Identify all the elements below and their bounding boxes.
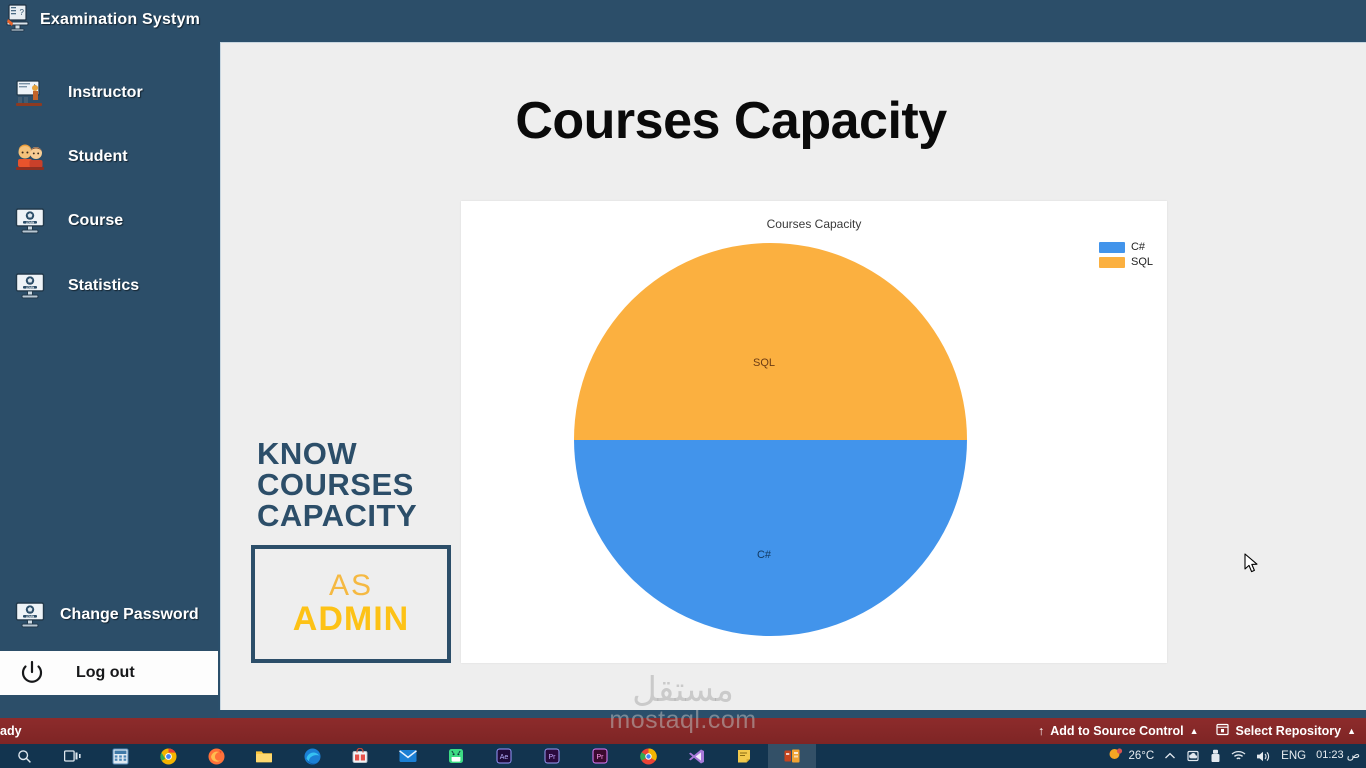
sidebar-item-change-password[interactable]: LEARN Change Password <box>0 589 218 641</box>
clock[interactable]: 01:23 ص <box>1316 750 1360 762</box>
file-explorer-icon[interactable] <box>240 744 288 768</box>
pie-circle <box>574 243 967 636</box>
svg-text:Pr: Pr <box>597 754 605 761</box>
legend-swatch-sql <box>1099 257 1125 268</box>
legend-label: SQL <box>1131 256 1153 268</box>
sidebar-item-label: Student <box>68 148 128 166</box>
mouse-cursor-icon <box>1244 553 1260 575</box>
chevron-up-icon[interactable] <box>1164 751 1176 761</box>
promo-headline: KNOW COURSES CAPACITY <box>257 438 477 531</box>
chart-panel: Courses Capacity C# SQL SQL C# <box>461 201 1167 663</box>
premiere-pro-icon[interactable]: Pr <box>528 744 576 768</box>
sidebar-item-logout[interactable]: Log out <box>0 651 218 695</box>
svg-text:LEARN: LEARN <box>26 221 35 224</box>
firefox-icon[interactable] <box>192 744 240 768</box>
pie-slice-label-csharp: C# <box>757 549 771 561</box>
promo-line-3: CAPACITY <box>257 500 477 531</box>
premiere-rush-icon[interactable]: Pr <box>576 744 624 768</box>
svg-text:LEARN: LEARN <box>26 286 35 289</box>
change-password-monitor-icon: LEARN <box>8 601 52 629</box>
page-title: Courses Capacity <box>221 91 1241 151</box>
sun-cloud-icon <box>1108 747 1124 765</box>
weather-widget[interactable]: 26°C <box>1108 747 1154 765</box>
sidebar-item-statistics[interactable]: LEARN Statistics <box>0 260 218 312</box>
exam-monitor-icon: ? <box>6 4 32 37</box>
app-title: Examination Systym <box>40 11 200 29</box>
chrome-two-icon[interactable] <box>624 744 672 768</box>
taskbar-icon-list: Ae Pr Pr <box>0 744 816 768</box>
sidebar-item-student[interactable]: Student <box>0 131 218 183</box>
legend-item[interactable]: C# <box>1099 241 1153 253</box>
mail-icon[interactable] <box>384 744 432 768</box>
calculator-icon[interactable] <box>96 744 144 768</box>
chart-legend: C# SQL <box>1099 241 1153 268</box>
sidebar-item-instructor[interactable]: Instructor <box>0 67 218 119</box>
add-to-source-control-label: Add to Source Control <box>1050 724 1183 738</box>
select-repository-label: Select Repository <box>1235 724 1341 738</box>
pie-slice-csharp[interactable] <box>574 440 967 637</box>
promo-badge-as: AS <box>329 570 373 602</box>
wifi-icon[interactable] <box>1231 750 1246 762</box>
usb-icon[interactable] <box>1210 749 1221 763</box>
svg-text:LEARN: LEARN <box>26 615 35 618</box>
system-tray: 26°C <box>1108 747 1366 765</box>
pie-slice-label-sql: SQL <box>753 357 775 369</box>
visual-studio-status-bar: ady ↑ Add to Source Control ▲ Select Rep… <box>0 718 1366 744</box>
promo-line-1: KNOW <box>257 438 477 469</box>
power-icon <box>10 660 54 686</box>
status-ready-text: ady <box>0 724 22 738</box>
android-studio-icon[interactable] <box>432 744 480 768</box>
sticky-notes-icon[interactable] <box>720 744 768 768</box>
add-to-source-control-button[interactable]: ↑ Add to Source Control ▲ <box>1038 724 1199 738</box>
sidebar-item-label: Statistics <box>68 277 139 295</box>
repository-icon <box>1216 723 1229 739</box>
up-arrow-icon: ↑ <box>1038 724 1044 738</box>
svg-text:?: ? <box>20 8 25 17</box>
speaker-icon[interactable] <box>1256 750 1271 763</box>
edge-icon[interactable] <box>288 744 336 768</box>
instructor-board-icon <box>8 79 52 107</box>
store-icon[interactable] <box>336 744 384 768</box>
promo-badge-box: AS ADMIN <box>251 545 451 663</box>
sidebar-item-label: Log out <box>76 664 135 682</box>
sidebar-item-label: Course <box>68 212 123 230</box>
clock-meridiem: ص <box>1347 749 1360 761</box>
legend-item[interactable]: SQL <box>1099 256 1153 268</box>
content-area: Courses Capacity KNOW COURSES CAPACITY A… <box>220 42 1366 710</box>
chevron-up-icon: ▲ <box>1190 726 1199 736</box>
clock-time: 01:23 <box>1316 749 1344 761</box>
select-repository-button[interactable]: Select Repository ▲ <box>1216 723 1356 739</box>
sidebar: Instructor Student <box>0 40 218 718</box>
task-view-icon[interactable] <box>48 744 96 768</box>
pie-chart: SQL C# <box>574 243 967 636</box>
after-effects-icon[interactable]: Ae <box>480 744 528 768</box>
chart-title: Courses Capacity <box>461 217 1167 231</box>
chrome-icon[interactable] <box>144 744 192 768</box>
sidebar-item-label: Instructor <box>68 84 143 102</box>
onedrive-icon[interactable] <box>1186 750 1200 762</box>
sidebar-item-course[interactable]: LEARN Course <box>0 195 218 247</box>
pie-slice-sql[interactable] <box>574 243 967 440</box>
visual-studio-icon[interactable] <box>768 744 816 768</box>
promo-line-2: COURSES <box>257 469 477 500</box>
title-bar: ? Examination Systym <box>0 0 1366 40</box>
course-monitor-icon: LEARN <box>8 207 52 235</box>
svg-text:Pr: Pr <box>549 754 557 761</box>
search-icon[interactable] <box>0 744 48 768</box>
application-window: ? Examination Systym <box>0 0 1366 718</box>
chevron-up-icon: ▲ <box>1347 726 1356 736</box>
svg-text:Ae: Ae <box>500 754 509 761</box>
sidebar-item-label: Change Password <box>60 606 199 624</box>
vs-code-icon[interactable] <box>672 744 720 768</box>
legend-label: C# <box>1131 241 1145 253</box>
legend-swatch-csharp <box>1099 242 1125 253</box>
statistics-monitor-icon: LEARN <box>8 272 52 300</box>
students-icon <box>8 143 52 171</box>
language-indicator[interactable]: ENG <box>1281 750 1306 762</box>
windows-taskbar: Ae Pr Pr <box>0 744 1366 768</box>
weather-temperature: 26°C <box>1128 750 1154 762</box>
promo-badge-admin: ADMIN <box>293 602 409 638</box>
